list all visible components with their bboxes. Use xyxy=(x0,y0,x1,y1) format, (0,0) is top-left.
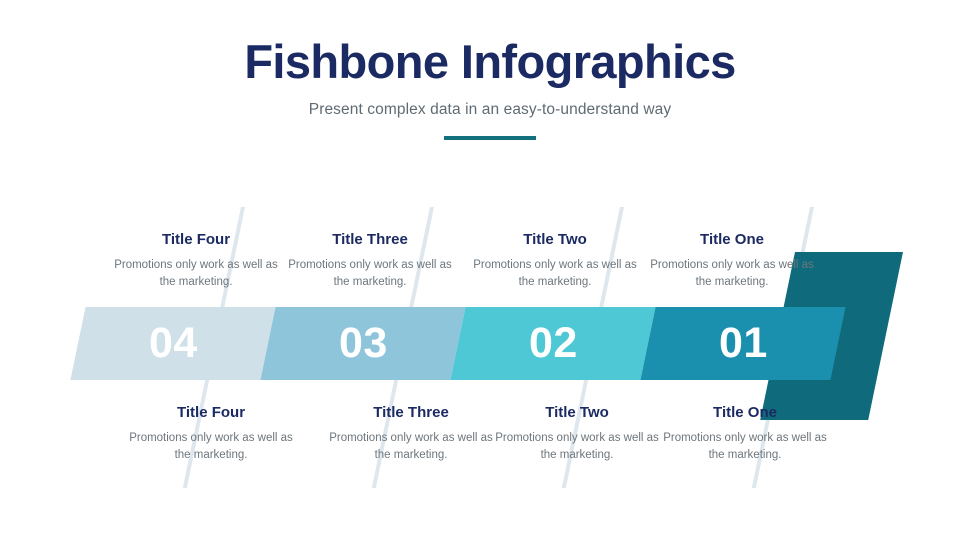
infographic-slide: Fishbone Infographics Present complex da… xyxy=(0,0,980,551)
accent-underline xyxy=(444,136,536,140)
step-segment-04[interactable]: 04 xyxy=(70,307,275,380)
step-title-bottom-04: Title Four xyxy=(121,404,301,422)
step-segment-02[interactable]: 02 xyxy=(450,307,655,380)
step-segment-01[interactable]: 01 xyxy=(640,307,845,380)
step-desc-top-02: Promotions only work as well as the mark… xyxy=(465,257,645,290)
step-desc-top-03: Promotions only work as well as the mark… xyxy=(280,257,460,290)
step-label-bottom-01: Title One Promotions only work as well a… xyxy=(655,404,835,463)
step-desc-bottom-02: Promotions only work as well as the mark… xyxy=(487,430,667,463)
page-subtitle: Present complex data in an easy-to-under… xyxy=(0,101,980,119)
step-label-top-04: Title Four Promotions only work as well … xyxy=(106,231,286,290)
step-title-bottom-03: Title Three xyxy=(321,404,501,422)
step-label-bottom-04: Title Four Promotions only work as well … xyxy=(121,404,301,463)
step-number-03: 03 xyxy=(339,322,388,365)
header: Fishbone Infographics Present complex da… xyxy=(0,36,980,140)
step-label-bottom-03: Title Three Promotions only work as well… xyxy=(321,404,501,463)
step-number-01: 01 xyxy=(719,322,768,365)
step-label-bottom-02: Title Two Promotions only work as well a… xyxy=(487,404,667,463)
step-title-top-04: Title Four xyxy=(106,231,286,249)
step-desc-top-04: Promotions only work as well as the mark… xyxy=(106,257,286,290)
step-desc-bottom-03: Promotions only work as well as the mark… xyxy=(321,430,501,463)
step-desc-bottom-01: Promotions only work as well as the mark… xyxy=(655,430,835,463)
step-title-top-01: Title One xyxy=(642,231,822,249)
step-title-bottom-01: Title One xyxy=(655,404,835,422)
step-title-top-03: Title Three xyxy=(280,231,460,249)
step-title-bottom-02: Title Two xyxy=(487,404,667,422)
step-title-top-02: Title Two xyxy=(465,231,645,249)
page-title: Fishbone Infographics xyxy=(0,36,980,89)
step-desc-bottom-04: Promotions only work as well as the mark… xyxy=(121,430,301,463)
step-label-top-01: Title One Promotions only work as well a… xyxy=(642,231,822,290)
step-number-02: 02 xyxy=(529,322,578,365)
step-label-top-03: Title Three Promotions only work as well… xyxy=(280,231,460,290)
step-label-top-02: Title Two Promotions only work as well a… xyxy=(465,231,645,290)
step-desc-top-01: Promotions only work as well as the mark… xyxy=(642,257,822,290)
number-band: 04 03 02 01 xyxy=(0,307,980,380)
step-number-04: 04 xyxy=(149,322,198,365)
step-segment-03[interactable]: 03 xyxy=(260,307,465,380)
